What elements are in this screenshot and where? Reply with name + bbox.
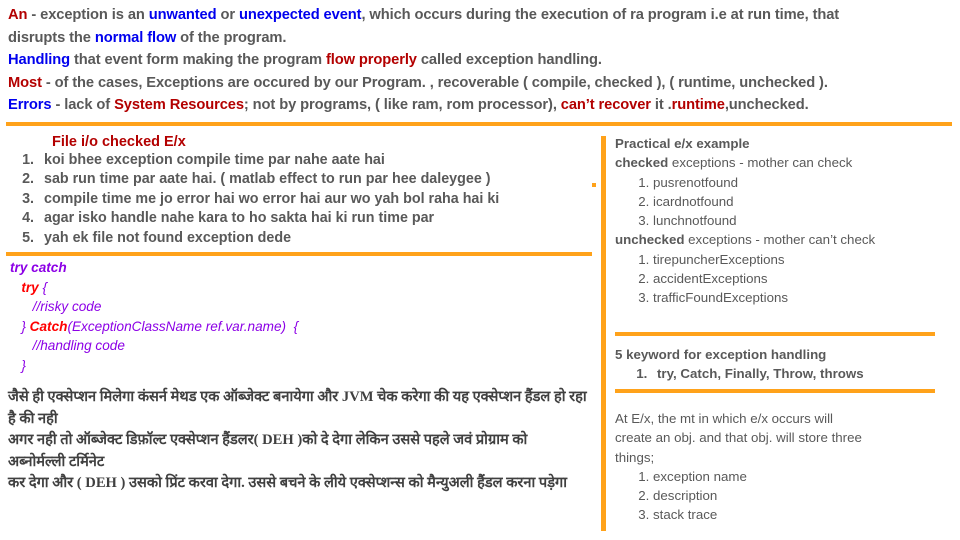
code-title-text: try catch (10, 260, 67, 275)
divider-right-above-keywords (615, 332, 935, 336)
code-line-handling-comment: //handling code (10, 336, 298, 356)
header-line-2: disrupts the normal flow of the program. (8, 27, 952, 50)
code-line-catch-rest: (ExceptionClassName ref.var.name) { (67, 319, 298, 334)
checked-keyword: checked (615, 155, 668, 170)
keyword-runtime: runtime (672, 97, 725, 113)
checked-heading-rest: exceptions - mother can check (668, 155, 852, 170)
unchecked-heading: unchecked exceptions - mother can’t chec… (615, 230, 945, 249)
code-brace-close: } (21, 319, 29, 334)
list-item: exception name (653, 467, 945, 486)
list-item: koi bhee exception compile time par nahe… (38, 151, 598, 170)
header-line-5-text-b: ; not by programs, ( like ram, rom proce… (244, 97, 561, 113)
keyword-flow-properly: flow properly (326, 52, 417, 68)
keywords-list: try, Catch, Finally, Throw, throws (615, 364, 945, 383)
code-brace-end: } (21, 358, 26, 373)
keyword-unexpected-event: unexpected event (239, 7, 361, 23)
fileio-section-title: File i/o checked E/x (52, 134, 598, 150)
code-keyword-catch: Catch (30, 319, 68, 334)
list-item: try, Catch, Finally, Throw, throws (651, 364, 945, 383)
header-line-5-text-c: it . (651, 97, 672, 113)
code-line-try-rest: { (39, 280, 47, 295)
list-item: yah ek file not found exception dede (38, 229, 598, 248)
header-line-1-text-a: - exception is an (27, 7, 148, 23)
code-line-try: try { (10, 278, 298, 298)
list-item: lunchnotfound (653, 211, 945, 230)
code-comment-risky: //risky code (33, 299, 102, 314)
header-line-4: Most - of the cases, Exceptions are occu… (8, 72, 952, 95)
header-line-2-text-a: disrupts the (8, 30, 95, 46)
list-item: icardnotfound (653, 192, 945, 211)
header-line-1: An - exception is an unwanted or unexpec… (8, 4, 952, 27)
hindi-line-2: अगर नही तो ऑब्जेक्ट डिफ़ॉल्ट एक्सेप्शन ह… (8, 430, 588, 473)
header-line-2-text-b: of the program. (176, 30, 286, 46)
code-line-catch: } Catch(ExceptionClassName ref.var.name)… (10, 317, 298, 337)
checked-heading: checked exceptions - mother can check (615, 153, 945, 172)
keyword-an: An (8, 7, 27, 23)
divider-top-full (6, 122, 952, 126)
keyword-system-resources: System Resources (114, 97, 244, 113)
header-line-5-text-a: - lack of (51, 97, 114, 113)
hindi-explanation-paragraph: जैसे ही एक्सेप्शन मिलेगा कंसर्न मेथड एक … (8, 387, 588, 495)
keyword-cant-recover: can’t recover (561, 97, 651, 113)
code-keyword-try: try (21, 280, 38, 295)
fileio-numbered-list: koi bhee exception compile time par nahe… (0, 151, 598, 248)
list-item: trafficFoundExceptions (653, 288, 945, 307)
list-item: pusrenotfound (653, 173, 945, 192)
list-item: accidentExceptions (653, 269, 945, 288)
header-line-3-text-b: called exception handling. (417, 52, 602, 68)
header-line-1-text-c: , which occurs during the execution of r… (361, 7, 839, 23)
try-catch-code-block: try catch try { //risky code } Catch(Exc… (10, 258, 298, 376)
practical-example-title: Practical e/x example (615, 134, 945, 153)
at-exception-line-2: create an obj. and that obj. will store … (615, 428, 945, 447)
header-line-4-text-a: - of the cases, Exceptions are occured b… (42, 75, 828, 91)
header-line-3-text-a: that event form making the program (70, 52, 326, 68)
header-line-3: Handling that event form making the prog… (8, 49, 952, 72)
divider-left-under-fileio (6, 252, 592, 256)
at-exception-list: exception name description stack trace (615, 467, 945, 525)
list-item: compile time me jo error hai wo error ha… (38, 190, 598, 209)
unchecked-exception-list: tirepuncherExceptions accidentExceptions… (615, 250, 945, 308)
hindi-line-3: कर देगा और ( DEH ) उसको प्रिंट करवा देगा… (8, 473, 588, 495)
divider-right-column-vertical (601, 136, 606, 531)
unchecked-keyword: unchecked (615, 232, 684, 247)
list-item: stack trace (653, 505, 945, 524)
list-item: description (653, 486, 945, 505)
keyword-unwanted: unwanted (149, 7, 217, 23)
practical-example-block: Practical e/x example checked exceptions… (615, 134, 945, 308)
at-exception-block: At E/x, the mt in which e/x occurs will … (615, 409, 945, 525)
hindi-line-1: जैसे ही एक्सेप्शन मिलेगा कंसर्न मेथड एक … (8, 387, 588, 430)
code-title: try catch (10, 258, 298, 278)
list-item: agar isko handle nahe kara to ho sakta h… (38, 209, 598, 228)
keywords-title: 5 keyword for exception handling (615, 345, 945, 364)
code-line-risky-comment: //risky code (10, 297, 298, 317)
checked-exception-list: pusrenotfound icardnotfound lunchnotfoun… (615, 173, 945, 231)
keyword-handling: Handling (8, 52, 70, 68)
at-exception-line-1: At E/x, the mt in which e/x occurs will (615, 409, 945, 428)
list-item: sab run time par aate hai. ( matlab effe… (38, 170, 598, 189)
left-column: File i/o checked E/x koi bhee exception … (0, 130, 598, 248)
keywords-block: 5 keyword for exception handling try, Ca… (615, 345, 945, 384)
header-line-5-text-d: ,unchecked. (725, 97, 809, 113)
code-line-end-brace: } (10, 356, 298, 376)
list-item: tirepuncherExceptions (653, 250, 945, 269)
keyword-most: Most (8, 75, 42, 91)
divider-right-below-keywords (615, 389, 935, 393)
unchecked-heading-rest: exceptions - mother can’t check (684, 232, 875, 247)
keyword-normal-flow: normal flow (95, 30, 176, 46)
keyword-errors: Errors (8, 97, 51, 113)
code-comment-handling: //handling code (33, 338, 125, 353)
header-definition-block: An - exception is an unwanted or unexpec… (8, 4, 952, 117)
header-line-5: Errors - lack of System Resources; not b… (8, 94, 952, 117)
header-line-1-text-b: or (217, 7, 239, 23)
at-exception-line-3: things; (615, 448, 945, 467)
